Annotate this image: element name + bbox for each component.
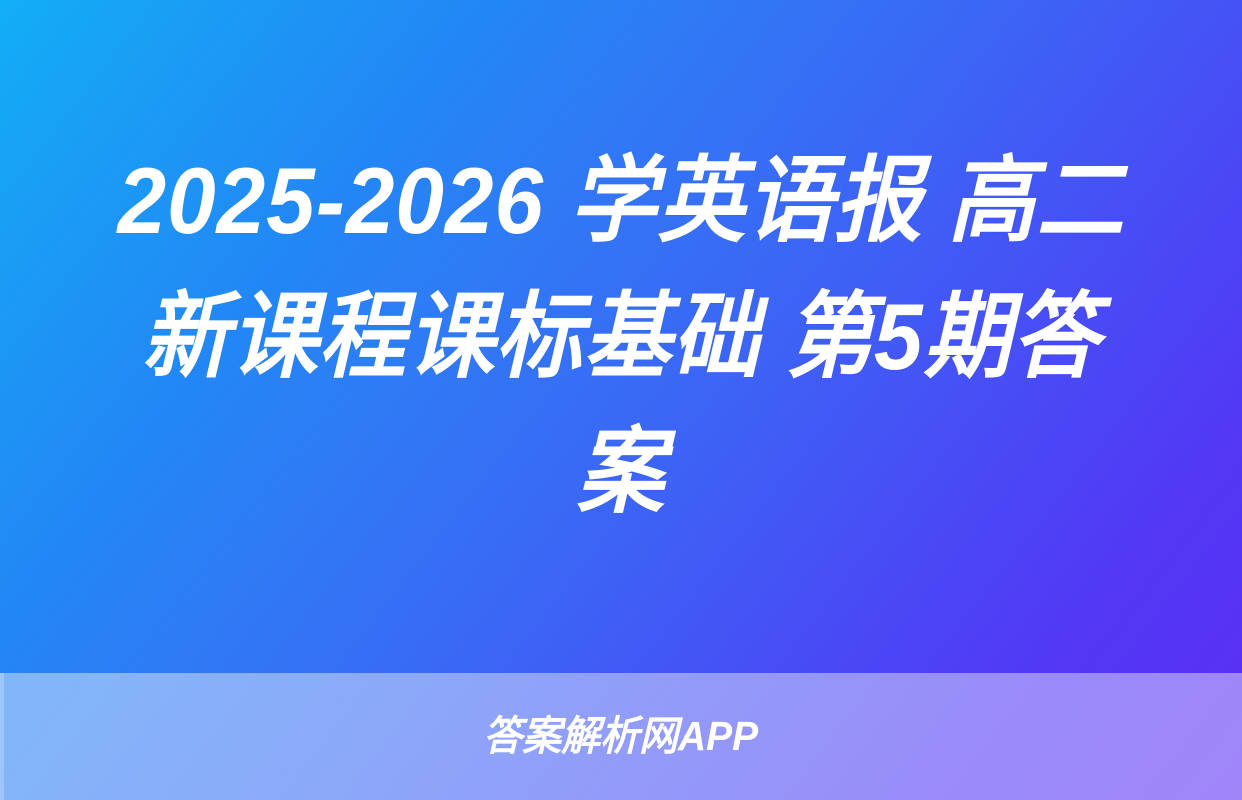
page-title: 2025-2026 学英语报 高二 新课程课标基础 第5期答案 [101,133,1141,539]
title-area: 2025-2026 学英语报 高二 新课程课标基础 第5期答案 [0,0,1242,673]
watermark-band: 答案解析网APP [0,673,1242,800]
answer-card-canvas: 2025-2026 学英语报 高二 新课程课标基础 第5期答案 答案解析网APP [0,0,1242,800]
watermark-text: 答案解析网APP [484,716,759,757]
